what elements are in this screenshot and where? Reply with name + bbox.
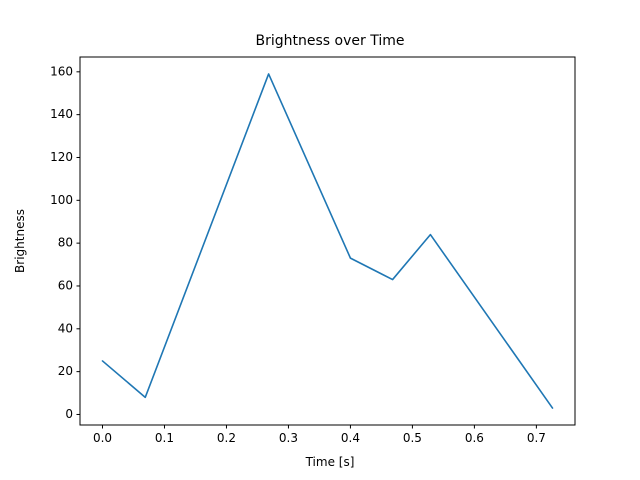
- chart-title: Brightness over Time: [256, 33, 405, 49]
- y-tick-label: 40: [58, 321, 73, 335]
- x-tick-label: 0.3: [279, 431, 298, 445]
- x-tick-label: 0.4: [341, 431, 360, 445]
- x-tick-label: 0.1: [155, 431, 174, 445]
- x-tick-label: 0.6: [465, 431, 484, 445]
- x-tick-label: 0.5: [403, 431, 422, 445]
- line-chart: Brightness over Time 0.00.10.20.30.40.50…: [0, 0, 640, 480]
- y-tick-label: 80: [58, 236, 73, 250]
- y-tick-label: 0: [65, 407, 73, 421]
- y-axis-label: Brightness: [13, 209, 27, 273]
- figure-background: [0, 0, 640, 480]
- y-tick-label: 20: [58, 364, 73, 378]
- figure-canvas: Brightness over Time 0.00.10.20.30.40.50…: [0, 0, 640, 480]
- x-tick-label: 0.0: [93, 431, 112, 445]
- y-tick-label: 140: [50, 107, 73, 121]
- y-tick-label: 120: [50, 150, 73, 164]
- x-tick-label: 0.7: [527, 431, 546, 445]
- y-tick-label: 160: [50, 64, 73, 78]
- y-tick-label: 60: [58, 278, 73, 292]
- x-tick-label: 0.2: [217, 431, 236, 445]
- y-tick-label: 100: [50, 193, 73, 207]
- x-axis-label: Time [s]: [305, 455, 355, 469]
